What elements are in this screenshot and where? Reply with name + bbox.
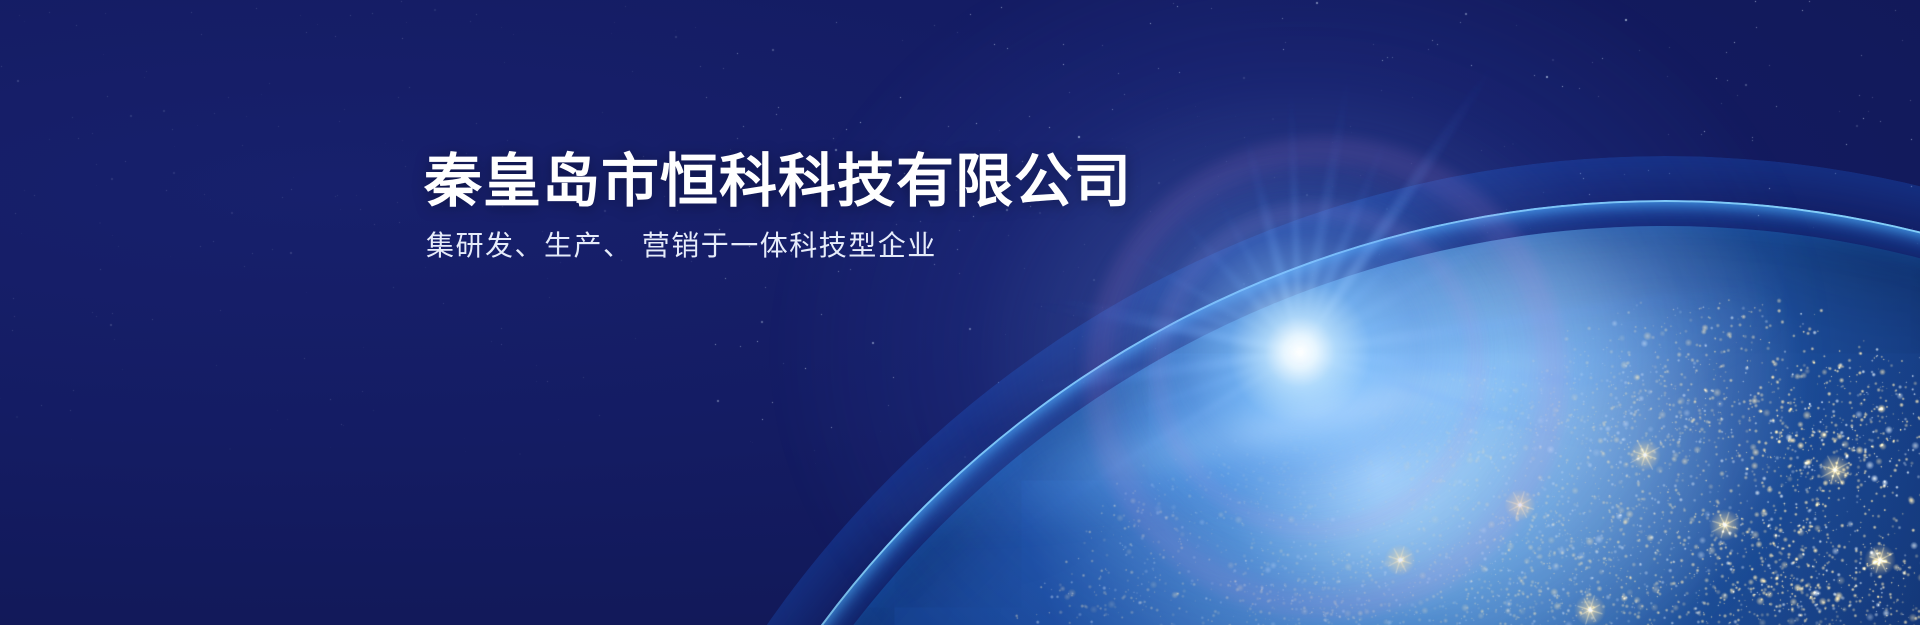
company-title: 秦皇岛市恒科科技有限公司 bbox=[424, 150, 1132, 215]
flare-core bbox=[1070, 122, 1530, 582]
banner-copy: 秦皇岛市恒科科技有限公司 集研发、生产、 营销于一体科技型企业 bbox=[424, 150, 1132, 263]
company-slogan: 集研发、生产、 营销于一体科技型企业 bbox=[426, 229, 1132, 263]
hero-banner: 秦皇岛市恒科科技有限公司 集研发、生产、 营销于一体科技型企业 bbox=[0, 0, 1920, 625]
